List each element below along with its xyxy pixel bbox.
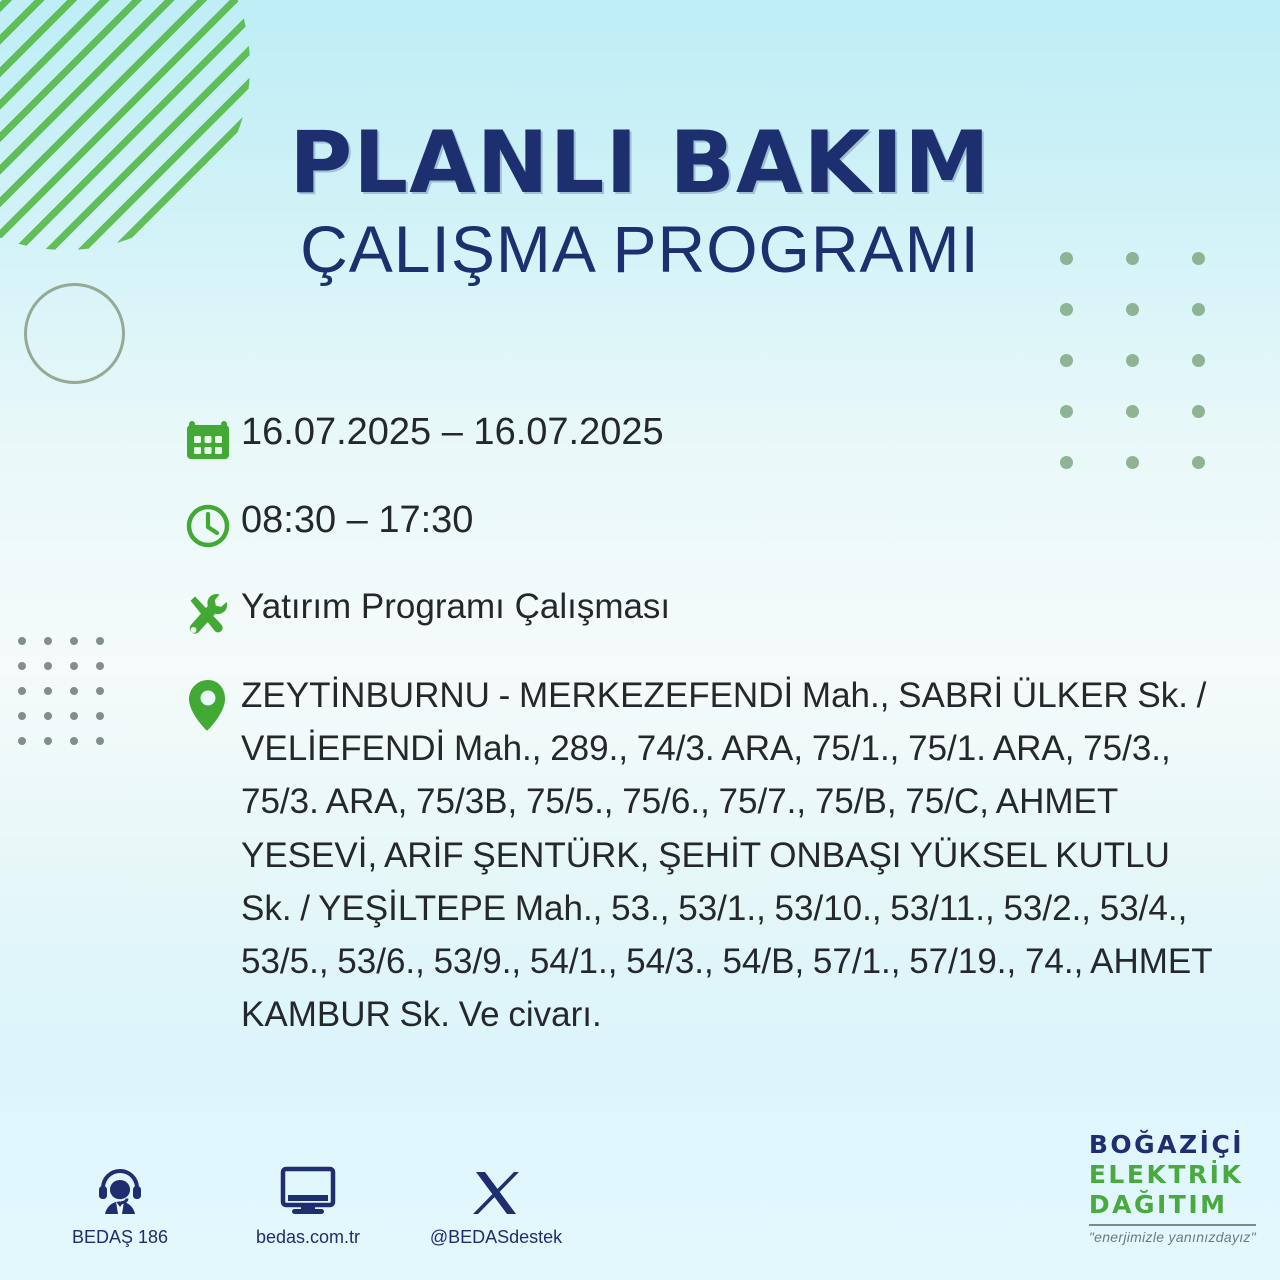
- info-row-location: ZEYTİNBURNU - MERKEZEFENDİ Mah., SABRİ Ü…: [175, 669, 1245, 1041]
- work-type-text: Yatırım Programı Çalışması: [241, 581, 1245, 627]
- poster-header: PLANLI BAKIM ÇALIŞMA PROGRAMI: [0, 120, 1280, 288]
- contact-phone[interactable]: BEDAŞ 186: [52, 1162, 188, 1248]
- logo-line-bogazici: BOĞAZİÇİ: [1089, 1132, 1256, 1157]
- logo-tagline: "enerjimizle yanınızdayız": [1089, 1230, 1256, 1244]
- page-title: PLANLI BAKIM: [0, 120, 1280, 206]
- contact-phone-label: BEDAŞ 186: [52, 1227, 188, 1248]
- contact-social[interactable]: @BEDASdestek: [428, 1162, 564, 1248]
- contact-channels: BEDAŞ 186 bedas.com.tr: [52, 1162, 564, 1248]
- outage-info-block: 16.07.2025 – 16.07.2025 08:30 – 17:30: [175, 405, 1245, 1041]
- contact-website-label: bedas.com.tr: [240, 1227, 376, 1248]
- location-pin-icon: [175, 669, 241, 739]
- monitor-icon: [240, 1162, 376, 1218]
- x-twitter-icon: [428, 1162, 564, 1218]
- logo-line-dagitim: DAĞITIM: [1089, 1192, 1256, 1217]
- clock-icon: [175, 493, 241, 559]
- bedas-logo: BOĞAZİÇİ ELEKTRİK DAĞITIM "enerjimizle y…: [1089, 1132, 1256, 1244]
- page-subtitle: ÇALIŞMA PROGRAMI: [0, 212, 1280, 288]
- poster-canvas: PLANLI BAKIM ÇALIŞMA PROGRAMI 16.07.2025…: [0, 0, 1280, 1280]
- contact-social-label: @BEDASdestek: [428, 1227, 564, 1248]
- logo-divider: [1089, 1224, 1256, 1226]
- info-row-time: 08:30 – 17:30: [175, 493, 1245, 559]
- poster-footer: BEDAŞ 186 bedas.com.tr: [0, 1132, 1280, 1262]
- logo-line-elektrik: ELEKTRİK: [1089, 1162, 1256, 1187]
- headset-support-icon: [52, 1162, 188, 1218]
- circle-outline-decoration: [24, 283, 125, 384]
- time-range-text: 08:30 – 17:30: [241, 493, 1245, 543]
- calendar-icon: [175, 405, 241, 471]
- dot-grid-left-decoration: [18, 637, 122, 762]
- info-row-work-type: Yatırım Programı Çalışması: [175, 581, 1245, 647]
- date-range-text: 16.07.2025 – 16.07.2025: [241, 405, 1245, 455]
- info-row-date: 16.07.2025 – 16.07.2025: [175, 405, 1245, 471]
- contact-website[interactable]: bedas.com.tr: [240, 1162, 376, 1248]
- location-text: ZEYTİNBURNU - MERKEZEFENDİ Mah., SABRİ Ü…: [241, 669, 1216, 1041]
- tools-icon: [175, 581, 241, 647]
